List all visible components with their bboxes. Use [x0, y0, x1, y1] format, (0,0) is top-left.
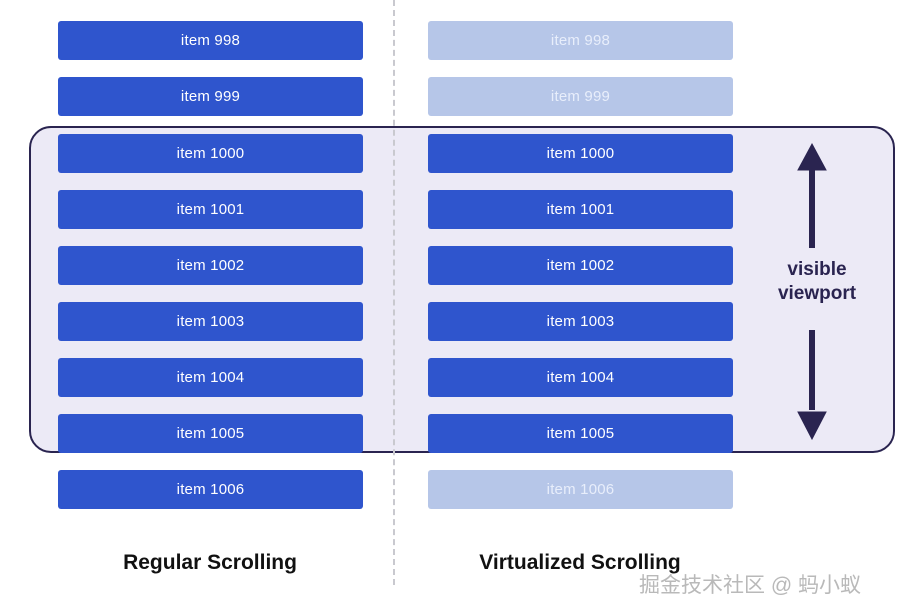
list-item: item 998 [58, 21, 363, 60]
list-item: item 999 [428, 77, 733, 116]
viewport-label-line2: viewport [752, 282, 882, 306]
list-item: item 1003 [58, 302, 363, 341]
list-item: item 1004 [58, 358, 363, 397]
watermark: 掘金技术社区 @ 蚂小蚁 [639, 569, 861, 599]
list-item: item 1006 [428, 470, 733, 509]
list-item: item 1002 [58, 246, 363, 285]
virtualized-scrolling-column: item 998item 999item 1000item 1001item 1… [370, 0, 770, 609]
list-item: item 1000 [428, 134, 733, 173]
viewport-annotation: visible viewport [752, 140, 882, 445]
list-item: item 1001 [428, 190, 733, 229]
viewport-label-line1: visible [752, 258, 882, 282]
column-divider [393, 0, 395, 585]
list-item: item 1003 [428, 302, 733, 341]
viewport-label: visible viewport [752, 258, 882, 306]
regular-scrolling-column: item 998item 999item 1000item 1001item 1… [0, 0, 400, 609]
list-item: item 1005 [58, 414, 363, 453]
list-item: item 1002 [428, 246, 733, 285]
list-item: item 999 [58, 77, 363, 116]
diagram-canvas: item 998item 999item 1000item 1001item 1… [0, 0, 917, 609]
list-item: item 1004 [428, 358, 733, 397]
list-item: item 1001 [58, 190, 363, 229]
list-item: item 998 [428, 21, 733, 60]
caption-regular-scrolling: Regular Scrolling [10, 551, 410, 575]
list-item: item 1000 [58, 134, 363, 173]
list-item: item 1006 [58, 470, 363, 509]
list-item: item 1005 [428, 414, 733, 453]
